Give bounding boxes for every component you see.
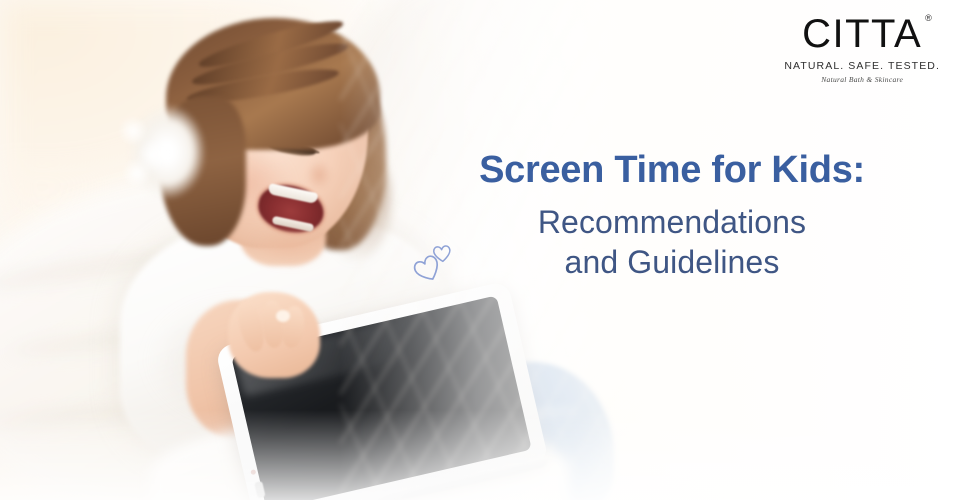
registered-trademark-icon: ® [925, 14, 933, 23]
logo-wordmark-text: CITTA [802, 12, 922, 56]
headline-block: Screen Time for Kids: Recommendations an… [432, 148, 912, 282]
hero-banner: CITTA ® NATURAL. SAFE. TESTED. Natural B… [0, 0, 960, 500]
page-title: Screen Time for Kids: [432, 148, 912, 193]
fingernail [276, 310, 290, 322]
logo-tagline: NATURAL. SAFE. TESTED. [784, 61, 940, 72]
logo-wordmark: CITTA ® [802, 14, 922, 54]
citta-logo[interactable]: CITTA ® NATURAL. SAFE. TESTED. Natural B… [784, 14, 940, 83]
logo-sub-tagline: Natural Bath & Skincare [784, 76, 940, 84]
hair-bow-frill [118, 116, 184, 188]
nose [306, 160, 332, 190]
chin [250, 226, 330, 266]
page-subtitle-line-1: Recommendations [432, 202, 912, 242]
page-subtitle: Recommendations and Guidelines [432, 202, 912, 283]
page-subtitle-line-2: and Guidelines [432, 242, 912, 282]
